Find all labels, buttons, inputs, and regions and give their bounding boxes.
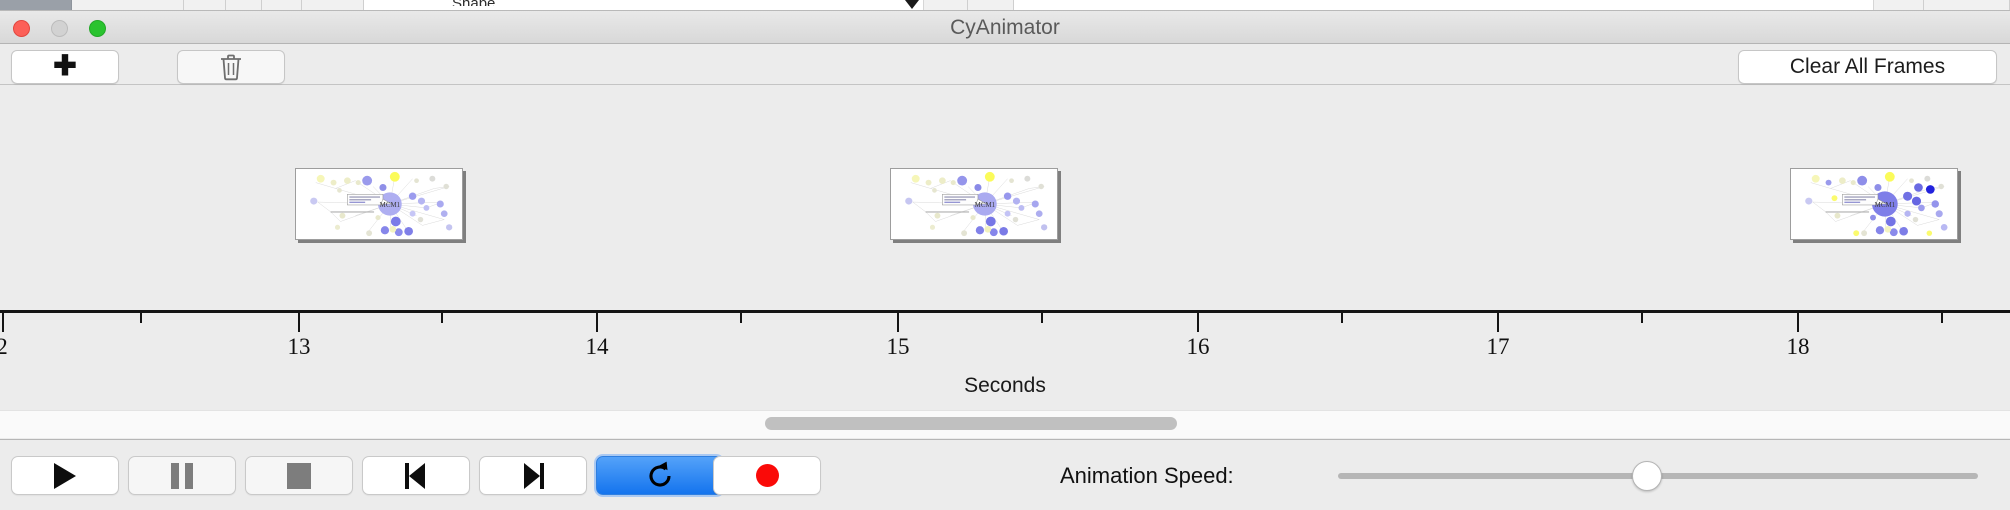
skip-back-icon (403, 463, 429, 489)
bg-chunk (1924, 0, 2010, 11)
stop-icon (287, 463, 311, 489)
loop-icon (645, 461, 675, 491)
axis-title: Seconds (0, 374, 2010, 398)
axis-tick-minor (740, 313, 742, 323)
pause-button[interactable] (128, 456, 236, 495)
timeline-frame[interactable]: MCM1 (890, 168, 1058, 240)
bg-chunk (1014, 0, 1874, 11)
add-frame-button[interactable]: ✚ (11, 50, 119, 84)
axis-tick-major (1797, 313, 1799, 332)
axis-tick-label: 2 (0, 334, 32, 360)
axis-tick-major (298, 313, 300, 332)
plus-icon: ✚ (53, 52, 76, 80)
pause-icon (171, 463, 193, 489)
skip-to-start-button[interactable] (362, 456, 470, 495)
clear-all-frames-label: Clear All Frames (1790, 55, 1945, 79)
bg-chunk (364, 0, 924, 11)
svg-text:MCM1: MCM1 (380, 202, 401, 209)
timeline-panel[interactable]: MCM1 (0, 86, 2010, 403)
axis-tick-label: 16 (1168, 334, 1228, 360)
play-button[interactable] (11, 456, 119, 495)
play-icon (54, 463, 76, 489)
stop-button[interactable] (245, 456, 353, 495)
axis-tick-major (2, 313, 4, 332)
axis-tick-minor (1941, 313, 1943, 323)
record-button[interactable] (713, 456, 821, 495)
bg-chunk (262, 0, 302, 11)
axis-tick-label: 14 (567, 334, 627, 360)
axis-tick-minor (441, 313, 443, 323)
axis-tick-label: 13 (269, 334, 329, 360)
cyanimator-window: Shape CyAnimator ✚ Clear All Frames (0, 0, 2010, 510)
bg-chunk (924, 0, 968, 11)
top-toolbar: ✚ Clear All Frames (0, 44, 2010, 85)
background-caret-icon (905, 0, 919, 9)
horizontal-scrollbar-track[interactable] (0, 410, 2010, 438)
delete-frame-button[interactable] (177, 50, 285, 84)
window-title: CyAnimator (0, 11, 2010, 44)
network-graph-thumbnail: MCM1 (1791, 169, 1957, 239)
horizontal-scrollbar-thumb[interactable] (765, 417, 1177, 430)
axis-tick-major (897, 313, 899, 332)
axis-tick-major (596, 313, 598, 332)
bg-chunk (968, 0, 1014, 11)
svg-text:MCM1: MCM1 (1875, 202, 1896, 209)
bg-chunk (302, 0, 364, 11)
background-window-strip: Shape (0, 0, 2010, 11)
timeline-axis (0, 310, 2010, 313)
trash-icon (219, 53, 243, 81)
clear-all-frames-button[interactable]: Clear All Frames (1738, 50, 1997, 84)
bg-chunk (184, 0, 226, 11)
axis-tick-minor (1341, 313, 1343, 323)
axis-tick-label: 17 (1468, 334, 1528, 360)
skip-to-end-button[interactable] (479, 456, 587, 495)
skip-forward-icon (520, 463, 546, 489)
axis-tick-major (1197, 313, 1199, 332)
timeline-frame[interactable]: MCM1 (1790, 168, 1958, 240)
axis-tick-label: 15 (868, 334, 928, 360)
network-graph-thumbnail: MCM1 (296, 169, 462, 239)
timeline-frame[interactable]: MCM1 (295, 168, 463, 240)
axis-tick-minor (1041, 313, 1043, 323)
svg-text:MCM1: MCM1 (975, 202, 996, 209)
bg-chunk (226, 0, 262, 11)
record-icon (756, 464, 779, 487)
network-graph-thumbnail: MCM1 (891, 169, 1057, 239)
axis-tick-minor (1641, 313, 1643, 323)
animation-speed-slider-thumb[interactable] (1632, 461, 1662, 491)
title-bar: CyAnimator (0, 11, 2010, 44)
axis-tick-major (1497, 313, 1499, 332)
playback-toolbar: Animation Speed: (0, 439, 2010, 510)
axis-tick-minor (140, 313, 142, 323)
animation-speed-label: Animation Speed: (1060, 456, 1234, 495)
bg-chunk (0, 0, 72, 11)
bg-chunk (1874, 0, 1924, 11)
axis-tick-label: 18 (1768, 334, 1828, 360)
background-window-label: Shape (452, 0, 495, 6)
loop-button[interactable] (596, 456, 723, 495)
bg-chunk (72, 0, 184, 11)
